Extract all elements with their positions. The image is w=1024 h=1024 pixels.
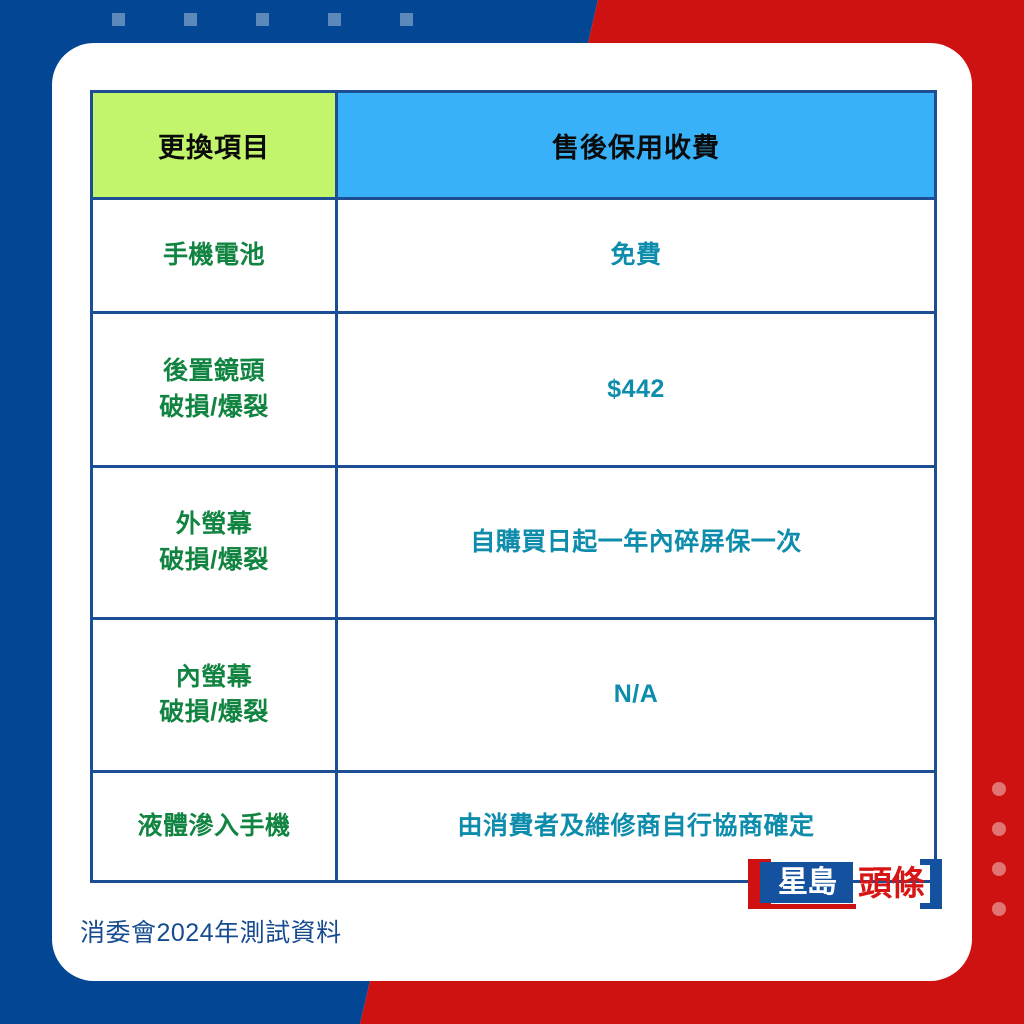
cell-item-1: 後置鏡頭 破損/爆裂 bbox=[92, 313, 337, 467]
decorative-square bbox=[328, 13, 341, 26]
logo-underline bbox=[760, 904, 856, 909]
item-line1: 手機電池 bbox=[163, 241, 265, 269]
decorative-square bbox=[184, 13, 197, 26]
infographic-canvas: 更換項目 售後保用收費 手機電池 免費 後置鏡頭 破損/爆裂 $442 bbox=[0, 0, 1024, 1024]
decorative-square bbox=[112, 13, 125, 26]
item-line1: 內螢幕 bbox=[176, 663, 253, 691]
cell-item-2: 外螢幕 破損/爆裂 bbox=[92, 467, 337, 619]
cell-fee-0: 免費 bbox=[337, 199, 936, 313]
logo-right-bracket bbox=[930, 859, 942, 909]
logo-text-red: 頭條 bbox=[852, 860, 930, 908]
column-header-fee: 售後保用收費 bbox=[337, 92, 936, 199]
publisher-logo: 星島 頭條 bbox=[748, 859, 942, 909]
source-note: 消委會2024年測試資料 bbox=[80, 913, 342, 949]
repair-fee-table: 更換項目 售後保用收費 手機電池 免費 後置鏡頭 破損/爆裂 $442 bbox=[90, 90, 937, 883]
decorative-square bbox=[400, 13, 413, 26]
cell-fee-2: 自購買日起一年內碎屏保一次 bbox=[337, 467, 936, 619]
item-line1: 外螢幕 bbox=[176, 510, 253, 538]
cell-item-3: 內螢幕 破損/爆裂 bbox=[92, 619, 337, 772]
decorative-square bbox=[256, 13, 269, 26]
item-line2: 破損/爆裂 bbox=[101, 695, 327, 731]
table-row: 外螢幕 破損/爆裂 自購買日起一年內碎屏保一次 bbox=[92, 467, 936, 619]
item-line2: 破損/爆裂 bbox=[101, 543, 327, 579]
cell-item-4: 液體滲入手機 bbox=[92, 772, 337, 882]
content-card: 更換項目 售後保用收費 手機電池 免費 後置鏡頭 破損/爆裂 $442 bbox=[52, 43, 972, 981]
item-line2: 破損/爆裂 bbox=[101, 390, 327, 426]
table-header-row: 更換項目 售後保用收費 bbox=[92, 92, 936, 199]
decorative-circle bbox=[992, 782, 1006, 796]
decorative-circle bbox=[992, 862, 1006, 876]
cell-fee-1: $442 bbox=[337, 313, 936, 467]
cell-fee-3: N/A bbox=[337, 619, 936, 772]
item-line1: 後置鏡頭 bbox=[163, 357, 265, 385]
cell-item-0: 手機電池 bbox=[92, 199, 337, 313]
logo-text-blue: 星島 bbox=[762, 862, 852, 903]
right-decorative-circles bbox=[992, 782, 1006, 916]
decorative-circle bbox=[992, 902, 1006, 916]
table-row: 內螢幕 破損/爆裂 N/A bbox=[92, 619, 936, 772]
logo-inner: 星島 頭條 bbox=[748, 859, 942, 909]
item-line1: 液體滲入手機 bbox=[137, 812, 290, 840]
table-row: 手機電池 免費 bbox=[92, 199, 936, 313]
top-decorative-squares bbox=[112, 13, 413, 26]
table-row: 後置鏡頭 破損/爆裂 $442 bbox=[92, 313, 936, 467]
column-header-item: 更換項目 bbox=[92, 92, 337, 199]
decorative-circle bbox=[992, 822, 1006, 836]
